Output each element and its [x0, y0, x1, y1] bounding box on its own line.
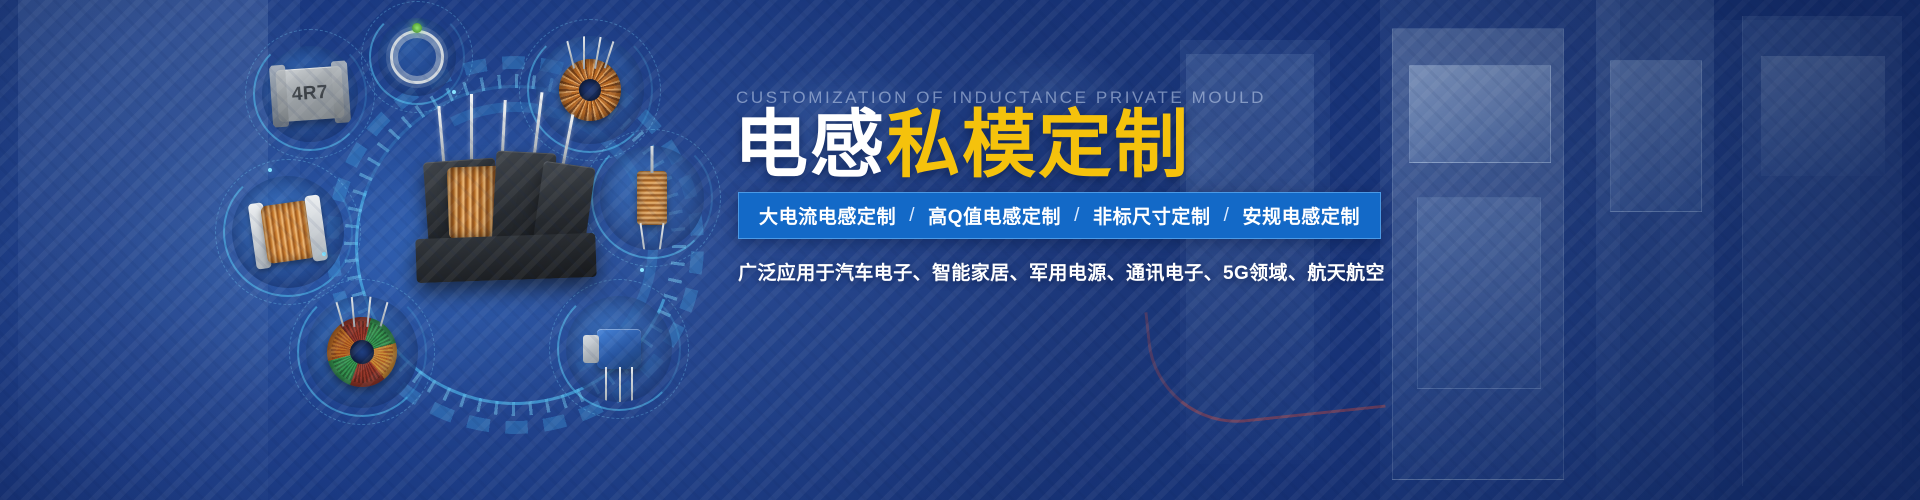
feature-item-1[interactable]: 大电流电感定制 — [759, 202, 896, 229]
application-tagline: 广泛应用于汽车电子、智能家居、军用电源、通讯电子、5G领域、航天航空 — [738, 258, 1385, 285]
feature-list-bar: 大电流电感定制 / 高Q值电感定制 / 非标尺寸定制 / 安规电感定制 — [738, 192, 1381, 239]
promo-banner: 4R7 — [0, 0, 1920, 500]
feature-separator: / — [1061, 205, 1093, 227]
headline-white-part: 电感 — [734, 102, 886, 188]
feature-item-2[interactable]: 高Q值电感定制 — [928, 202, 1061, 229]
feature-items: 大电流电感定制 / 高Q值电感定制 / 非标尺寸定制 / 安规电感定制 — [759, 202, 1360, 229]
feature-item-3[interactable]: 非标尺寸定制 — [1093, 202, 1211, 229]
page-title: 电感私模定制 — [734, 108, 1190, 182]
headline-gold-part: 私模定制 — [886, 102, 1190, 188]
banner-text-block: CUSTOMIZATION OF INDUCTANCE PRIVATE MOUL… — [736, 0, 1886, 500]
feature-item-4[interactable]: 安规电感定制 — [1242, 202, 1360, 229]
feature-separator: / — [1211, 205, 1243, 227]
feature-separator: / — [896, 205, 928, 227]
